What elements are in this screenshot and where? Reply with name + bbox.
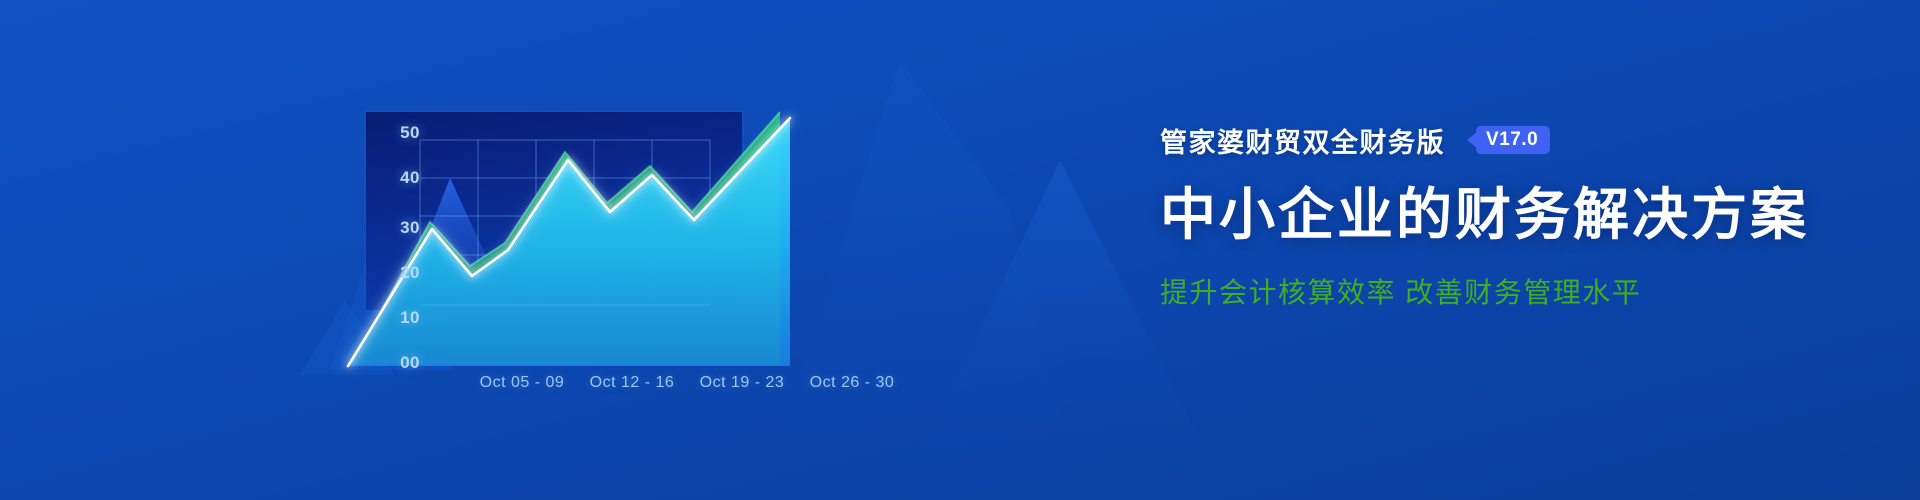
banner-text-block: 管家婆财贸双全财务版 V17.0 中小企业的财务解决方案 提升会计核算效率 改善… [1160,120,1860,311]
x-axis-label: Oct 26 - 30 [797,374,907,392]
y-axis-label: 10 [380,308,420,328]
y-axis-label: 20 [380,263,420,283]
headline: 中小企业的财务解决方案 [1160,186,1860,245]
y-axis-label: 00 [380,353,420,373]
version-badge: V17.0 [1467,126,1550,154]
product-name: 管家婆财贸双全财务版 [1160,121,1445,160]
product-name-row: 管家婆财贸双全财务版 V17.0 [1160,120,1860,160]
badge-tail-icon [1467,133,1476,147]
y-axis-label: 50 [380,123,420,143]
x-axis-label: Oct 12 - 16 [577,374,687,392]
promo-banner: 50 40 30 20 10 00 Oct 05 - 09 Oct 12 - 1… [0,0,1920,500]
version-badge-label: V17.0 [1476,126,1550,154]
chart: 50 40 30 20 10 00 Oct 05 - 09 Oct 12 - 1… [0,0,1000,500]
subheadline: 提升会计核算效率 改善财务管理水平 [1160,271,1860,311]
x-axis-label: Oct 05 - 09 [467,374,577,392]
x-axis-label: Oct 19 - 23 [687,374,797,392]
chart-svg [0,0,1000,500]
y-axis-label: 40 [380,168,420,188]
y-axis-label: 30 [380,218,420,238]
